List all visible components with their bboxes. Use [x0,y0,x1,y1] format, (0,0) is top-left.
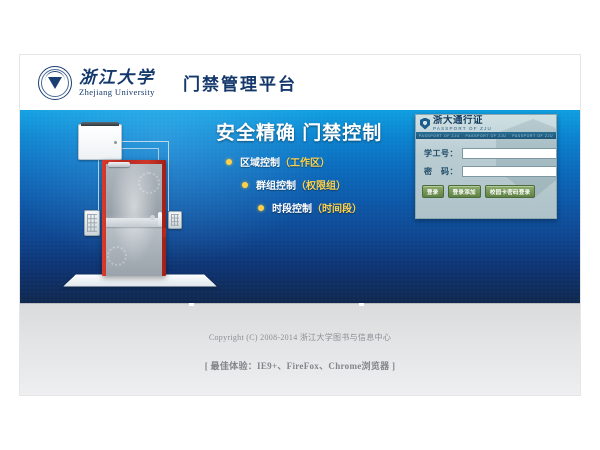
app-page: 浙江大学 Zhejiang University 门禁管理平台 [20,55,580,395]
login-decor-strip: PASSPORT OF ZJU PASSPORT OF ZJU PASSPORT… [416,132,556,139]
door-handle-icon [158,212,162,226]
strip-text: PASSPORT OF ZJU [419,134,460,138]
login-panel-header: 浙大通行证 PASSPORT OF ZJU [416,115,556,132]
login-panel: 浙大通行证 PASSPORT OF ZJU PASSPORT OF ZJU PA… [415,114,557,219]
shield-icon [420,118,430,130]
feature-paren: （权限组） [296,177,346,192]
bullet-dot-icon [258,205,264,211]
username-label: 学工号： [424,148,462,159]
bullet-dot-icon [226,159,232,165]
gear-icon-1 [138,172,160,194]
footer-nub [359,303,364,306]
list-item: 群组控制 （权限组） [242,177,362,192]
banner-headline: 安全精确 门禁控制 [216,118,382,145]
login-form: 学工号： 密 码： [416,139,556,177]
door-knob-icon [150,215,155,220]
zju-seal-icon [38,66,72,100]
site-header: 浙江大学 Zhejiang University 门禁管理平台 [20,55,580,110]
feature-paren: （时间段） [312,200,362,215]
password-input[interactable] [462,166,557,177]
keypad-icon [84,210,100,236]
controller-led [114,141,117,144]
copyright-text: Copyright (C) 2008-2014 浙江大学图书与信息中心 [20,304,580,343]
list-item: 时段控制 （时间段） [258,200,362,215]
wire-left-vertical [98,158,99,210]
login-title-cn: 浙大通行证 [433,116,492,126]
wire-second [120,148,158,149]
feature-paren: （工作区） [280,154,330,169]
university-logo[interactable]: 浙江大学 Zhejiang University [38,66,155,100]
page-title: 门禁管理平台 [183,70,297,95]
floor-platform [63,275,217,287]
site-footer: Copyright (C) 2008-2014 浙江大学图书与信息中心 [ 最佳… [20,303,580,395]
controller-box-icon [78,124,122,160]
feature-label: 群组控制 [256,177,296,192]
feature-label: 时段控制 [272,200,312,215]
logo-name-cn: 浙江大学 [79,69,155,86]
login-button[interactable]: 登录 [422,185,444,198]
keypad-keys [87,214,97,232]
door-strike-icon [163,228,166,237]
field-username: 学工号： [424,148,548,159]
strip-text: PASSPORT OF ZJU [512,134,553,138]
reader-keys [171,214,179,226]
card-reader-icon [168,211,182,229]
door-frame [102,160,166,276]
campus-card-login-button[interactable]: 校园卡密码登录 [485,185,536,198]
username-input[interactable] [462,148,557,159]
login-title-en: PASSPORT OF ZJU [433,127,492,132]
gear-icon-2 [107,246,127,266]
wire-top [120,141,168,142]
field-password: 密 码： [424,166,548,177]
feature-list: 区域控制 （工作区） 群组控制 （权限组） 时段控制 （时间段） [226,154,362,223]
logo-wordmark: 浙江大学 Zhejiang University [79,69,155,97]
seal-ring [41,69,69,97]
door-panel [106,164,162,276]
list-item: 区域控制 （工作区） [226,154,362,169]
login-add-button[interactable]: 登录添加 [448,185,481,198]
footer-nub [189,303,194,306]
logo-name-en: Zhejiang University [79,88,155,97]
access-control-illustration [62,122,222,294]
hero-banner: 安全精确 门禁控制 区域控制 （工作区） 群组控制 （权限组） 时段控制 （时间… [20,110,580,303]
browser-compat-text: [ 最佳体验：IE9+、FireFox、Chrome浏览器 ] [20,343,580,372]
feature-label: 区域控制 [240,154,280,169]
strip-text: PASSPORT OF ZJU [466,134,507,138]
password-label: 密 码： [424,166,462,177]
login-title-block: 浙大通行证 PASSPORT OF ZJU [433,116,492,131]
bullet-dot-icon [242,182,248,188]
wire-right-vertical [168,141,169,211]
login-button-row: 登录 登录添加 校园卡密码登录 [416,184,556,198]
door-closer-icon [108,162,130,167]
